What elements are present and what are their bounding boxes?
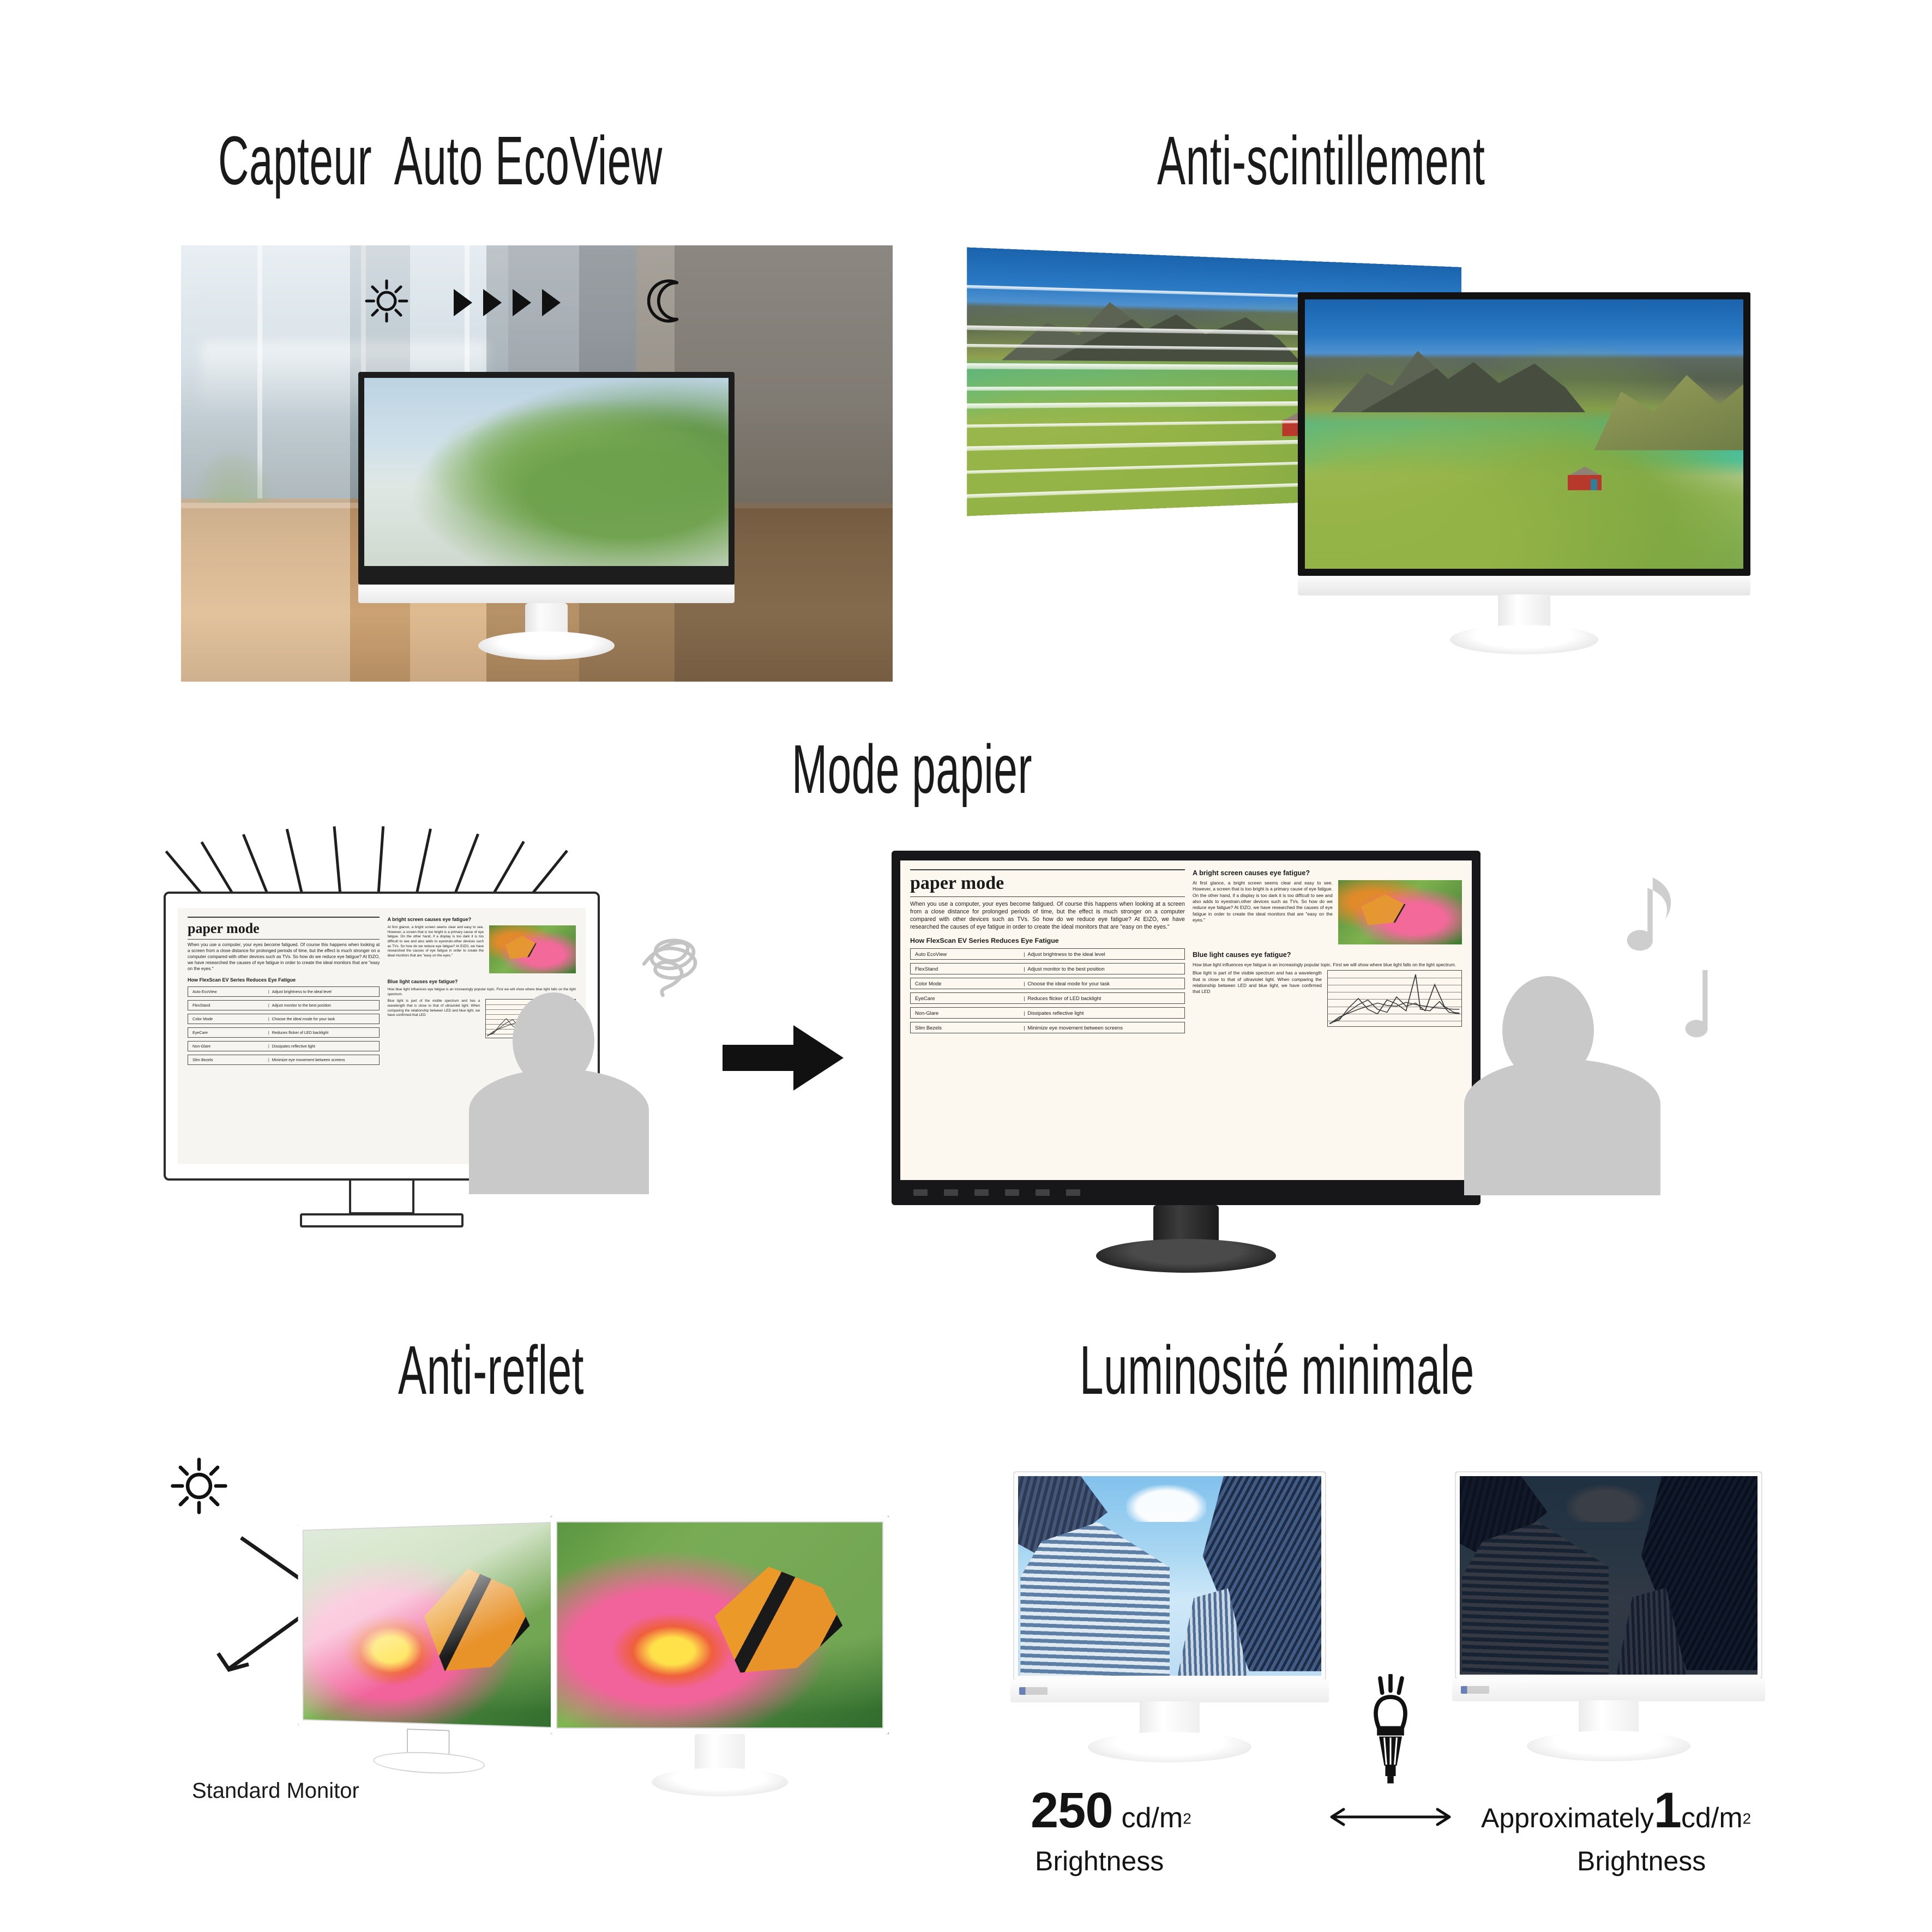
feature-desc: Dissipates reflective light <box>272 1044 375 1049</box>
divider <box>188 939 380 940</box>
bright-screen-heading: A bright screen causes eye fatigue? <box>1193 869 1462 877</box>
section-title-ecoview: Capteur Auto EcoView <box>218 121 663 200</box>
monitor-bezel <box>1014 1472 1325 1680</box>
brightness-number-left: 250 <box>1031 1783 1113 1838</box>
monitor-chin <box>1010 1680 1329 1702</box>
feature-name: FlexStand <box>915 966 1021 972</box>
ecoview-illustration <box>181 245 893 682</box>
table-row: Color Mode | Choose the ideal mode for y… <box>188 1014 380 1024</box>
monitor-bezel <box>298 1516 570 1734</box>
table-row: Slim Bezels | Minimize eye movement betw… <box>910 1022 1185 1033</box>
separator: | <box>1021 995 1027 1001</box>
bright-screen-block: At first glance, a bright screen seems c… <box>1193 880 1462 944</box>
eizo-logo <box>1461 1686 1489 1694</box>
separator: | <box>266 989 272 994</box>
triangle-right-icon <box>513 289 531 316</box>
triangle-right-icon <box>542 289 561 316</box>
monitor-bezel: paper mode When you use a computer, your… <box>892 851 1480 1205</box>
dim-brightness-monitor <box>1456 1472 1761 1678</box>
brightness-exponent-left: 2 <box>1183 1810 1191 1827</box>
table-heading: How FlexScan EV Series Reduces Eye Fatig… <box>910 937 1185 944</box>
feature-desc: Adjust brightness to the ideal level <box>272 989 375 994</box>
section-title-paper-mode: Mode papier <box>792 730 1032 809</box>
feature-desc: Minimize eye movement between screens <box>272 1057 375 1062</box>
intro-paragraph: When you use a computer, your eyes becom… <box>188 942 380 972</box>
feature-desc: Minimize eye movement between screens <box>1027 1025 1180 1031</box>
monitor-bezel <box>551 1516 889 1734</box>
paper-mode-heading: paper mode <box>188 921 380 936</box>
moon-icon <box>647 279 691 323</box>
separator: | <box>1021 1010 1027 1016</box>
music-note-icon <box>1620 870 1701 973</box>
triangle-right-icon-group <box>454 289 561 316</box>
triangle-right-icon <box>454 289 472 316</box>
feature-table: Auto EcoView | Adjust brightness to the … <box>188 986 380 1065</box>
osd-button[interactable] <box>1066 1189 1080 1196</box>
osd-button[interactable] <box>944 1189 958 1196</box>
monitor-chin <box>1452 1678 1765 1701</box>
brightness-illustration: 250cd/m2 Brightness Approximately1cd/m2 … <box>1003 1440 1783 1887</box>
brightness-number-right: 1 <box>1654 1783 1681 1838</box>
separator: | <box>266 1030 272 1035</box>
table-row: FlexStand | Adjust monitor to the best p… <box>188 1000 380 1010</box>
monitor-stand-base <box>1527 1731 1690 1761</box>
feature-name: Non-Glare <box>915 1010 1021 1016</box>
feature-name: Color Mode <box>192 1016 266 1021</box>
transition-arrow-icon <box>723 1025 842 1091</box>
brightness-value-left: 250cd/m2 <box>1031 1782 1191 1839</box>
antiflicker-illustration <box>1014 256 1789 638</box>
separator: | <box>1021 980 1027 986</box>
monitor-screen: paper mode When you use a computer, your… <box>900 860 1472 1180</box>
table-row: EyeCare | Reduces flicker of LED backlig… <box>910 992 1185 1004</box>
eizo-logo <box>1019 1687 1048 1695</box>
nonglare-monitor <box>551 1516 889 1734</box>
divider <box>910 896 1185 897</box>
paper-mode-heading: paper mode <box>910 874 1185 893</box>
papermode-illustration: paper mode When you use a computer, your… <box>164 812 1772 1303</box>
eye-strain-rays <box>196 827 573 898</box>
divider <box>188 917 380 918</box>
sun-icon <box>364 278 410 324</box>
table-row: EyeCare | Reduces flicker of LED backlig… <box>188 1027 380 1038</box>
brightness-caption-right: Brightness <box>1577 1845 1706 1877</box>
feature-name: Slim Bezels <box>192 1057 266 1062</box>
lightbulb-icon <box>1352 1674 1429 1789</box>
monitor-stand-base <box>300 1213 464 1227</box>
table-row: Non-Glare | Dissipates reflective light <box>188 1041 380 1051</box>
table-row: Slim Bezels | Minimize eye movement betw… <box>188 1055 380 1065</box>
feature-desc: Reduces flicker of LED backlight <box>1027 995 1180 1001</box>
table-row: Auto EcoView | Adjust brightness to the … <box>188 986 380 997</box>
papermode-monitor: paper mode When you use a computer, your… <box>892 851 1480 1205</box>
separator: | <box>266 1057 272 1062</box>
table-heading: How FlexScan EV Series Reduces Eye Fatig… <box>188 977 380 983</box>
brightness-caption-left: Brightness <box>1035 1845 1164 1877</box>
feature-name: FlexStand <box>192 1003 266 1008</box>
separator: | <box>1021 1025 1027 1031</box>
triangle-right-icon <box>483 289 502 316</box>
brightness-unit-right: cd/m <box>1681 1802 1743 1834</box>
feature-name: Auto EcoView <box>915 951 1021 957</box>
monitor-chin <box>358 585 735 603</box>
blue-light-body: Blue light is part of the visible spectr… <box>1193 970 1322 1027</box>
divider <box>910 869 1185 870</box>
screen-left-column: paper mode When you use a computer, your… <box>188 917 380 1155</box>
screen-right-column: A bright screen causes eye fatigue? At f… <box>1193 869 1462 1171</box>
feature-desc: Adjust brightness to the ideal level <box>1027 951 1180 957</box>
monitor-stand-base <box>1450 625 1598 654</box>
standard-monitor-label: Standard Monitor <box>192 1779 359 1803</box>
bright-brightness-monitor <box>1014 1472 1325 1680</box>
brightness-prefix-right: Approximately <box>1481 1803 1654 1833</box>
blue-light-lead: How blue light influences eye fatigue is… <box>1193 962 1462 968</box>
arrow-shaft <box>723 1045 799 1071</box>
screen-left-column: paper mode When you use a computer, your… <box>910 869 1185 1171</box>
monitor-bezel <box>1456 1472 1761 1678</box>
feature-name: EyeCare <box>915 995 1021 1001</box>
monitor-chin <box>1298 576 1750 595</box>
section-title-flicker: Anti-scintillement <box>1157 121 1485 200</box>
separator: | <box>1021 966 1027 972</box>
section-title-antiglare: Anti-reflet <box>398 1331 584 1410</box>
feature-desc: Adjust monitor to the best position <box>272 1003 375 1008</box>
bright-screen-heading: A bright screen causes eye fatigue? <box>387 917 576 922</box>
separator: | <box>266 1016 272 1021</box>
monitor-stand-base <box>1088 1732 1251 1762</box>
double-arrow-icon <box>1320 1806 1461 1828</box>
feature-desc: Reduces flicker of LED backlight <box>272 1030 375 1035</box>
monitor-stand-base <box>374 1750 485 1775</box>
frustration-scribble-icon <box>631 905 757 1014</box>
monitor-stand-base <box>652 1768 788 1796</box>
table-row: Auto EcoView | Adjust brightness to the … <box>910 948 1185 960</box>
blue-light-block: Blue light is part of the visible spectr… <box>1193 970 1462 1027</box>
standard-monitor-glare <box>298 1516 570 1734</box>
blue-light-heading: Blue light causes eye fatigue? <box>1193 951 1462 959</box>
feature-desc: Dissipates reflective light <box>1027 1010 1180 1016</box>
infographic-page: Capteur Auto EcoView Anti-scintillement … <box>0 0 1932 1932</box>
osd-button[interactable] <box>913 1189 928 1196</box>
section-title-brightness: Luminosité minimale <box>1080 1331 1474 1410</box>
feature-name: EyeCare <box>192 1030 266 1035</box>
feature-table: Auto EcoView | Adjust brightness to the … <box>910 948 1185 1033</box>
monitor-stand-base <box>1096 1239 1276 1273</box>
stable-monitor <box>1298 292 1750 576</box>
ecoview-icon-row <box>181 266 893 337</box>
osd-button[interactable] <box>1036 1189 1050 1196</box>
monitor-screen-plant-photo <box>364 378 729 566</box>
feature-name: Color Mode <box>915 980 1021 986</box>
person-silhouette-body-right <box>1464 1059 1660 1195</box>
ecoview-monitor <box>358 372 735 655</box>
person-silhouette-body-left <box>469 1069 649 1194</box>
separator: | <box>266 1044 272 1049</box>
monitor-bezel <box>358 372 735 585</box>
spectrum-chart <box>1327 970 1462 1027</box>
feature-name: Non-Glare <box>192 1044 266 1049</box>
intro-paragraph: When you use a computer, your eyes becom… <box>910 901 1185 931</box>
butterfly-photo <box>489 925 576 973</box>
mountain-peaks <box>1001 291 1301 362</box>
brightness-exponent-right: 2 <box>1743 1810 1752 1827</box>
osd-button[interactable] <box>974 1189 989 1196</box>
monitor-bezel <box>1298 292 1750 576</box>
bright-screen-block: At first glance, a bright screen seems c… <box>387 925 576 973</box>
antiglare-illustration: Standard Monitor <box>147 1440 911 1876</box>
brightness-unit-left: cd/m <box>1122 1802 1183 1834</box>
monitor-stand-neck <box>349 1181 414 1214</box>
feature-name: Auto EcoView <box>192 989 266 994</box>
bright-screen-body: At first glance, a bright screen seems c… <box>387 925 484 973</box>
blue-light-heading: Blue light causes eye fatigue? <box>387 979 576 984</box>
table-row: Color Mode | Choose the ideal mode for y… <box>910 978 1185 989</box>
arrow-head <box>793 1025 844 1091</box>
osd-button[interactable] <box>1005 1189 1019 1196</box>
separator: | <box>266 1003 272 1008</box>
chart-lines <box>1328 971 1461 1026</box>
bright-screen-body: At first glance, a bright screen seems c… <box>1193 880 1333 944</box>
blue-light-body: Blue light is part of the visible spectr… <box>387 999 480 1038</box>
table-row: Non-Glare | Dissipates reflective light <box>910 1007 1185 1019</box>
brightness-value-right: Approximately1cd/m2 <box>1481 1782 1751 1839</box>
feature-desc: Choose the ideal mode for your task <box>1027 980 1180 986</box>
monitor-stand-base <box>478 631 615 660</box>
feature-desc: Adjust monitor to the best position <box>1027 966 1180 972</box>
separator: | <box>1021 951 1027 957</box>
music-note-icon <box>1669 965 1734 1052</box>
feature-name: Slim Bezels <box>915 1025 1021 1031</box>
feature-desc: Choose the ideal mode for your task <box>272 1016 375 1021</box>
monitor-osd-buttons[interactable] <box>913 1185 1197 1200</box>
table-row: FlexStand | Adjust monitor to the best p… <box>910 963 1185 974</box>
sun-icon <box>169 1456 229 1516</box>
butterfly-photo <box>1338 880 1462 944</box>
